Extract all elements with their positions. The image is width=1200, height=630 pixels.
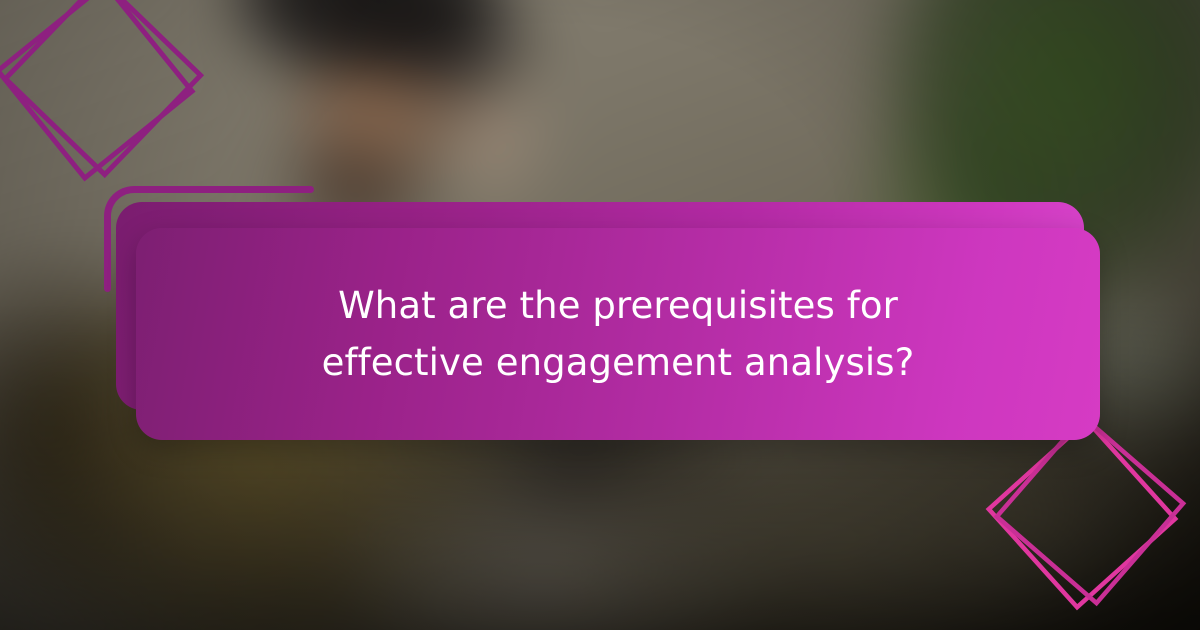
- question-headline: What are the prerequisites for effective…: [268, 277, 968, 392]
- question-card: What are the prerequisites for effective…: [136, 228, 1100, 440]
- social-card-canvas: What are the prerequisites for effective…: [0, 0, 1200, 630]
